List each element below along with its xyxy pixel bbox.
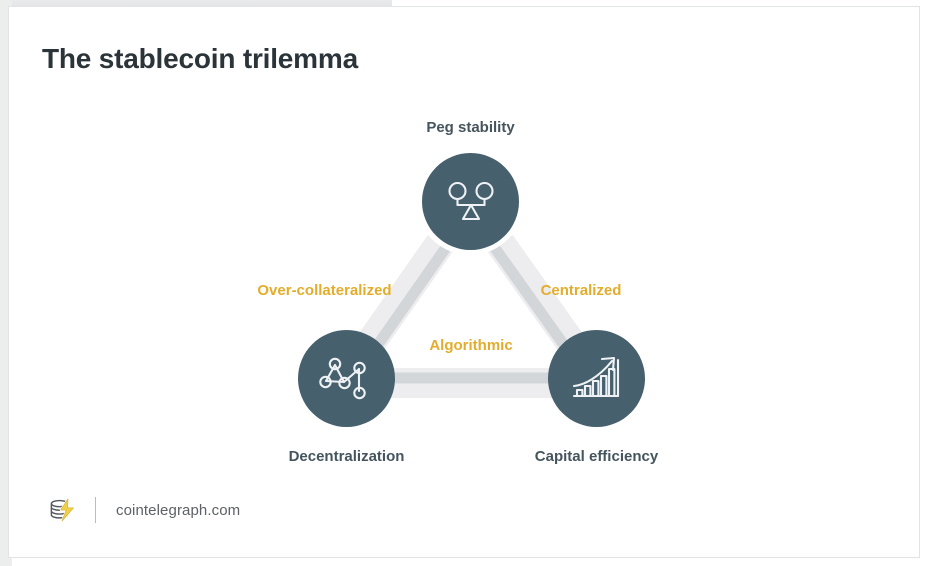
- node-peg-stability[interactable]: [422, 153, 519, 250]
- node-label-peg-stability: Peg stability: [422, 119, 519, 136]
- node-capital-efficiency[interactable]: [548, 330, 645, 427]
- edge-label-algorithmic: Algorithmic: [392, 337, 550, 354]
- balance-scale-icon: [443, 176, 499, 228]
- trilemma-diagram: Peg stability: [9, 7, 919, 557]
- footer-divider: [95, 497, 96, 523]
- triangle-connectors: [9, 7, 919, 557]
- node-label-capital-efficiency: Capital efficiency: [509, 448, 684, 465]
- growth-chart-icon: [568, 352, 626, 406]
- infographic-card: The stablecoin trilemma: [8, 6, 920, 558]
- node-decentralization[interactable]: [298, 330, 395, 427]
- node-label-decentralization: Decentralization: [259, 448, 434, 465]
- edge-label-over-collateralized: Over-collateralized: [207, 282, 442, 299]
- edge-label-centralized: Centralized: [501, 282, 661, 299]
- network-nodes-icon: [318, 351, 376, 407]
- footer: cointelegraph.com: [45, 493, 240, 527]
- footer-url[interactable]: cointelegraph.com: [116, 502, 240, 519]
- cointelegraph-logo[interactable]: [45, 493, 79, 527]
- slide-canvas: The stablecoin trilemma: [0, 0, 928, 566]
